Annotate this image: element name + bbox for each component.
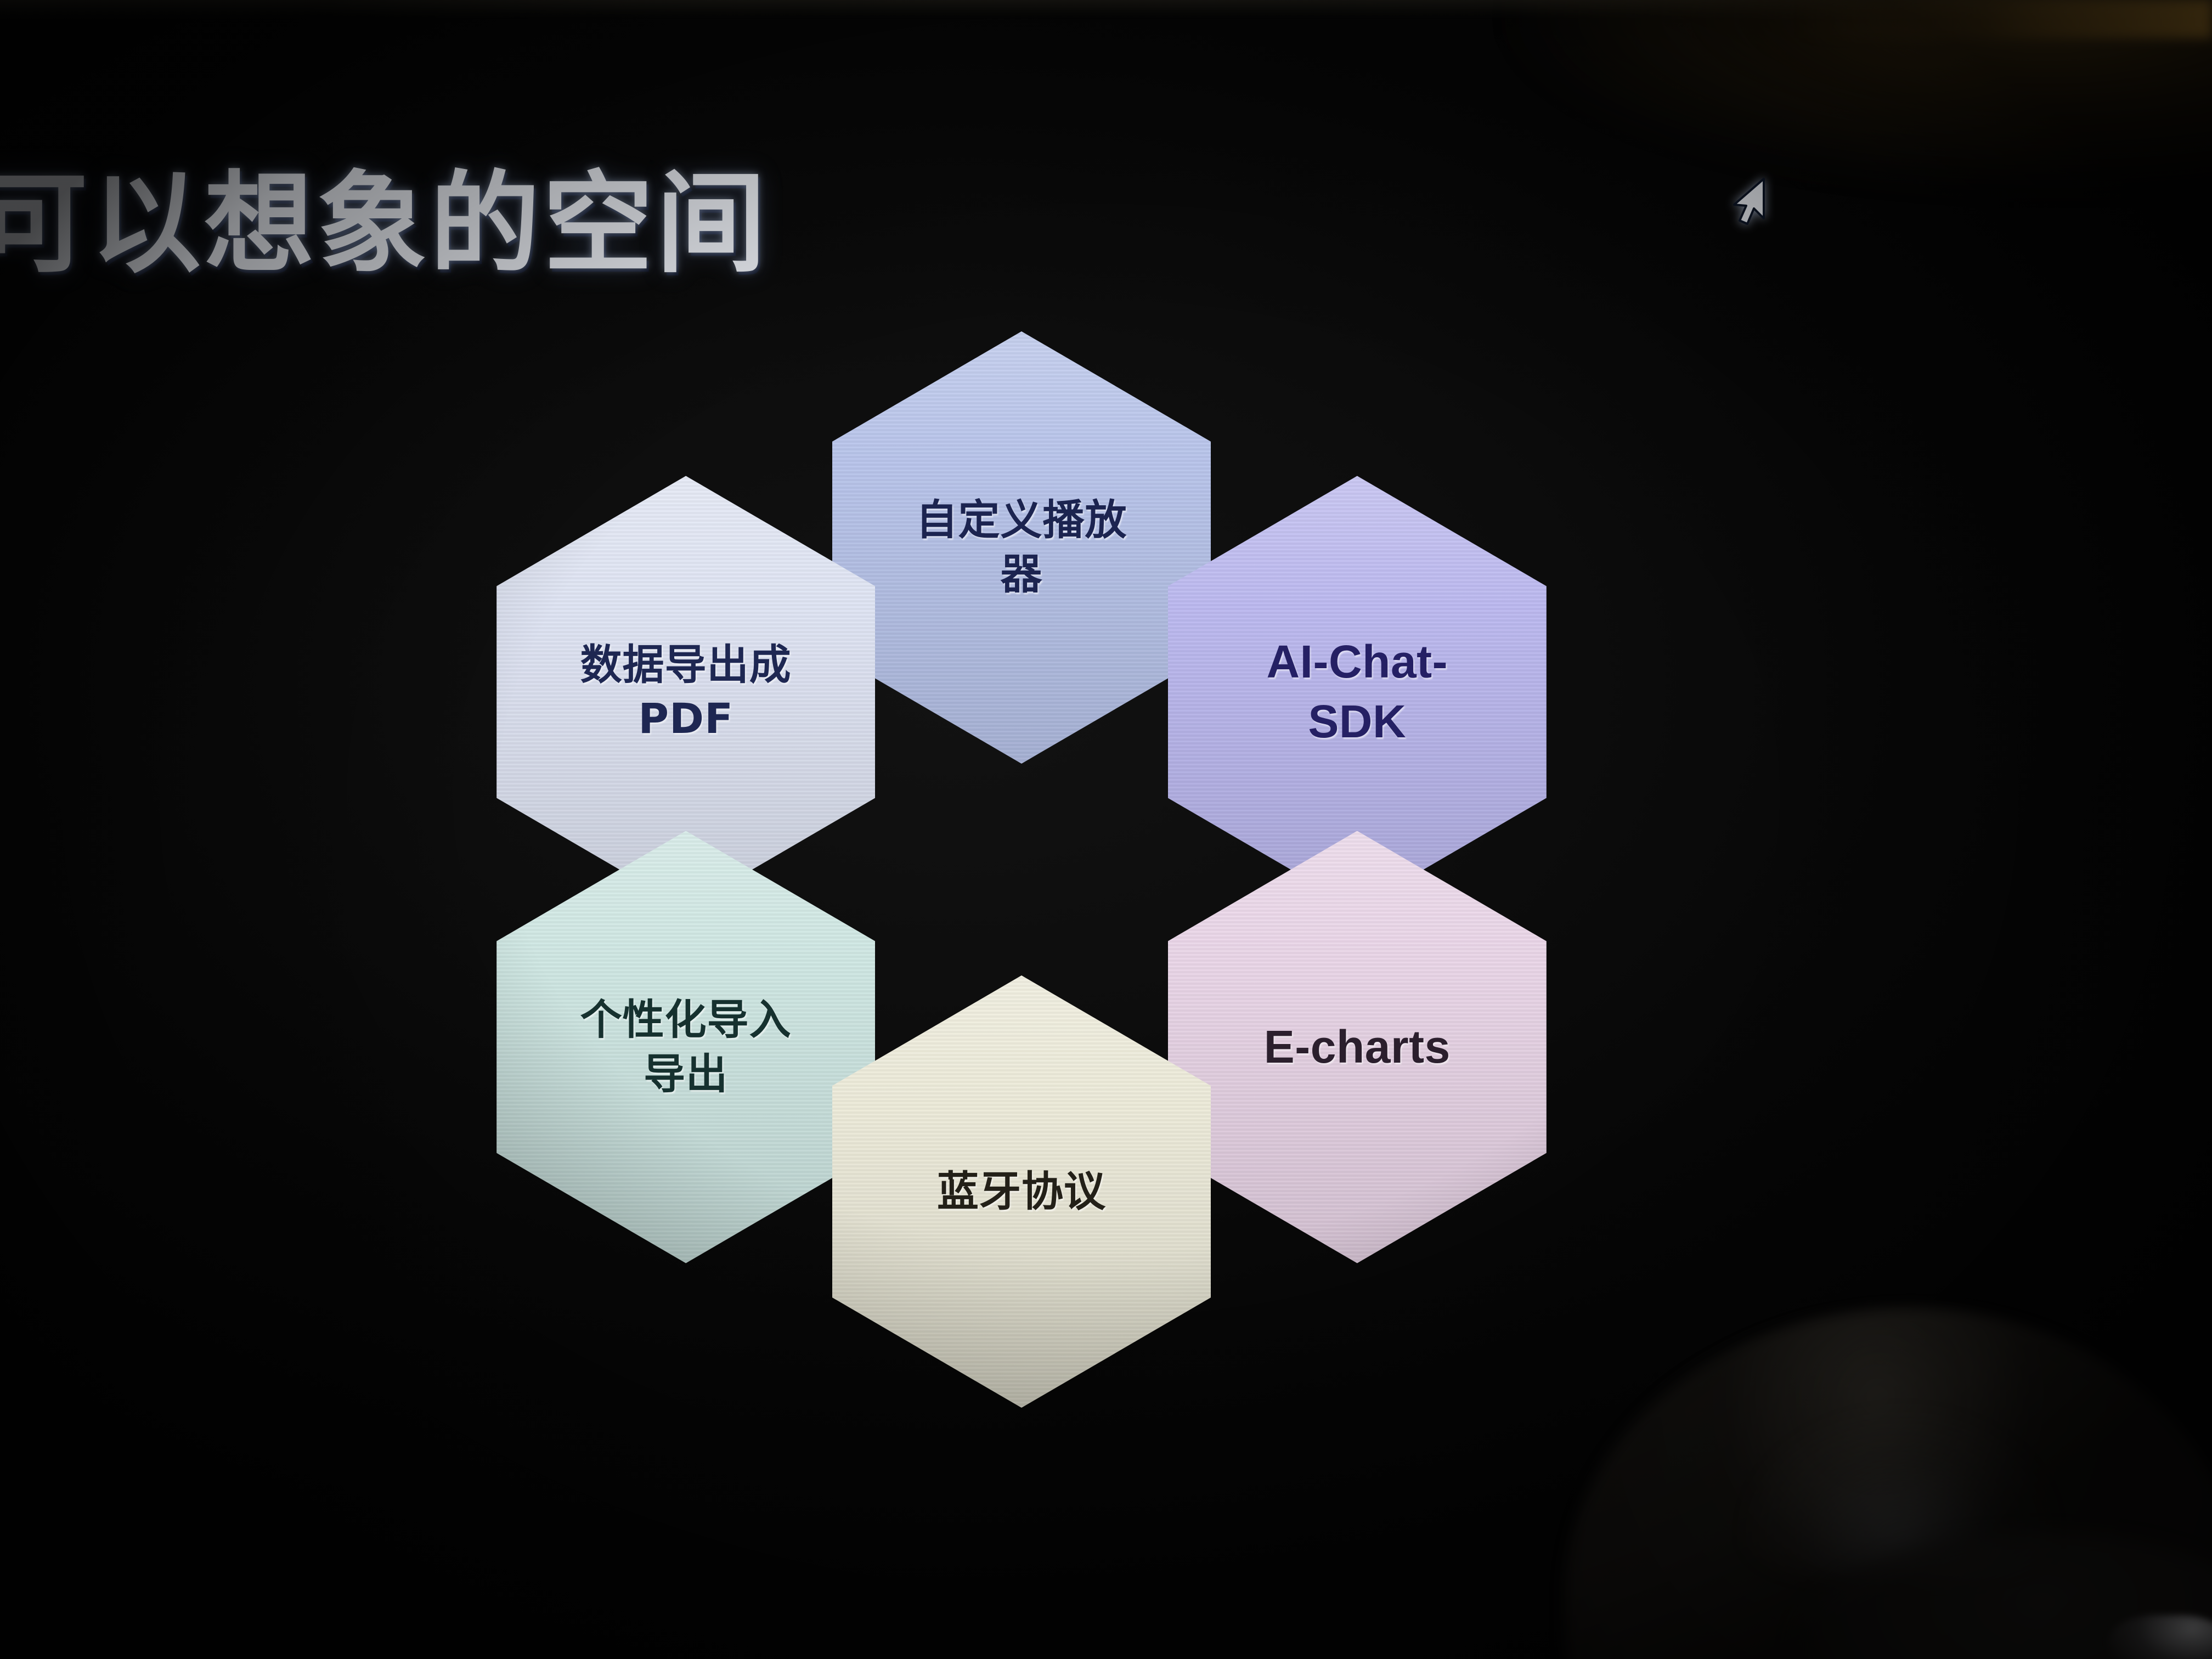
hex-label-data-export-pdf: 数据导出成 PDF: [542, 638, 830, 747]
hex-label-e-charts: E-charts: [1226, 1017, 1489, 1077]
hex-label-bluetooth-protocol: 蓝牙协议: [899, 1165, 1144, 1219]
hex-label-ai-chat-sdk: AI-Chat- SDK: [1228, 632, 1487, 752]
page-title: 可以想象的空间: [0, 167, 769, 282]
hex-label-custom-player: 自定义播放 器: [878, 493, 1166, 602]
screen-bezel: [0, 0, 2212, 19]
hex-label-personalized-import-export: 个性化导入 导出: [542, 993, 830, 1102]
slide-photo: 可以想象的空间 自定义播放 器数据导出成 PDFAI-Chat- SDK个性化导…: [0, 0, 2212, 1659]
